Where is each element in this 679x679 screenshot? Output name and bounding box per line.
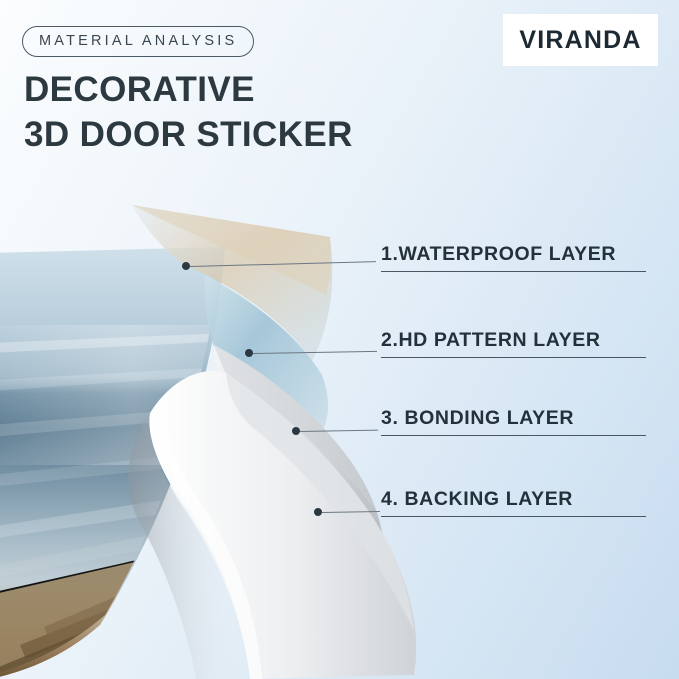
callout-backing: 4. BACKING LAYER <box>381 481 651 517</box>
callout-rule-bonding <box>381 435 646 436</box>
callout-label-bonding: 3. BONDING LAYER <box>381 407 574 430</box>
callout-hd-pattern: 2.HD PATTERN LAYER <box>381 322 651 358</box>
callout-waterproof: 1.WATERPROOF LAYER <box>381 236 651 272</box>
leader-line-backing <box>322 511 380 513</box>
callout-rule-hd-pattern <box>381 357 646 358</box>
callout-label-waterproof: 1.WATERPROOF LAYER <box>381 243 616 266</box>
callout-rule-backing <box>381 516 646 517</box>
callout-label-hd-pattern: 2.HD PATTERN LAYER <box>381 329 601 352</box>
callout-rule-waterproof <box>381 271 646 272</box>
callout-label-backing: 4. BACKING LAYER <box>381 488 573 511</box>
leader-dot-backing <box>314 508 322 516</box>
poster-root: MATERIAL ANALYSIS DECORATIVE 3D DOOR STI… <box>0 0 679 679</box>
callout-bonding: 3. BONDING LAYER <box>381 400 651 436</box>
